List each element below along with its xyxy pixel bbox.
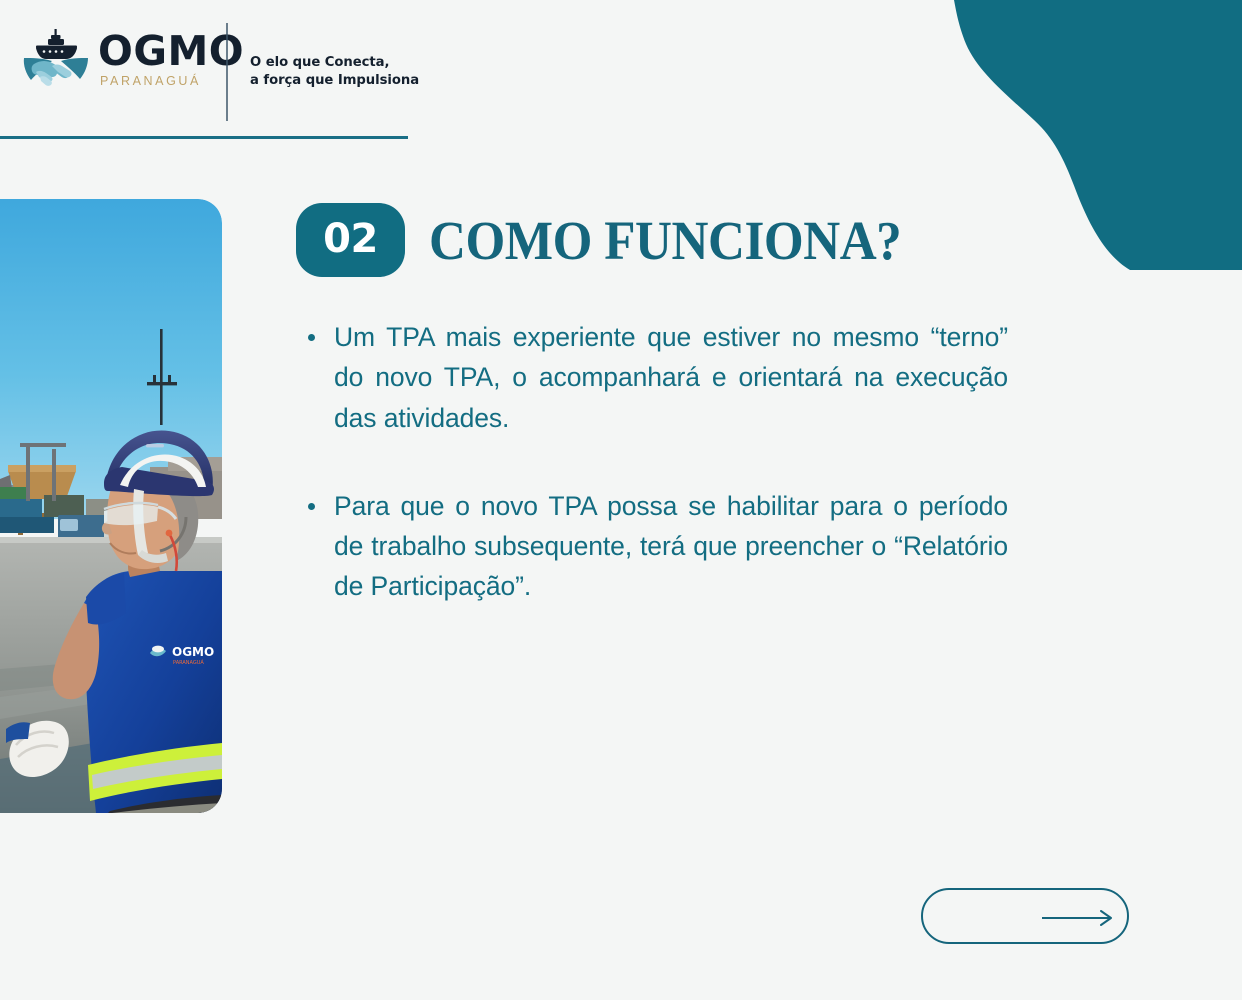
list-item: Para que o novo TPA possa se habilitar p…: [296, 486, 1008, 607]
section-number-badge: 02: [296, 203, 405, 277]
bullet-list: Um TPA mais experiente que estiver no me…: [296, 317, 1012, 607]
next-button[interactable]: [921, 888, 1129, 944]
tagline-line-2: a força que Impulsiona: [250, 72, 419, 90]
slide-root: OGMO PARANAGUÁ O elo que Conecta, a forç…: [0, 0, 1242, 1000]
main-content: 02 COMO FUNCIONA? Um TPA mais experiente…: [296, 203, 1012, 607]
brand-name: OGMO: [98, 32, 244, 71]
brand-wordmark: OGMO PARANAGUÁ: [98, 30, 244, 88]
brand-location: PARANAGUÁ: [100, 74, 244, 88]
svg-text:OGMO: OGMO: [172, 645, 214, 659]
list-item: Um TPA mais experiente que estiver no me…: [296, 317, 1008, 438]
section-heading: 02 COMO FUNCIONA?: [296, 203, 1012, 277]
brand-logo[interactable]: OGMO PARANAGUÁ: [22, 28, 244, 90]
header-underline-rule: [0, 136, 408, 139]
brand-tagline: O elo que Conecta, a força que Impulsion…: [250, 54, 419, 90]
tagline-line-1: O elo que Conecta,: [250, 54, 419, 72]
worker-photo: OGMO PARANAGUÁ: [0, 199, 222, 813]
page-title: COMO FUNCIONA?: [429, 213, 901, 268]
svg-text:PARANAGUÁ: PARANAGUÁ: [173, 659, 204, 666]
ogmo-ship-handshake-logo-icon: [22, 28, 90, 90]
page-header: OGMO PARANAGUÁ O elo que Conecta, a forç…: [0, 0, 640, 140]
header-vertical-divider: [226, 23, 228, 121]
